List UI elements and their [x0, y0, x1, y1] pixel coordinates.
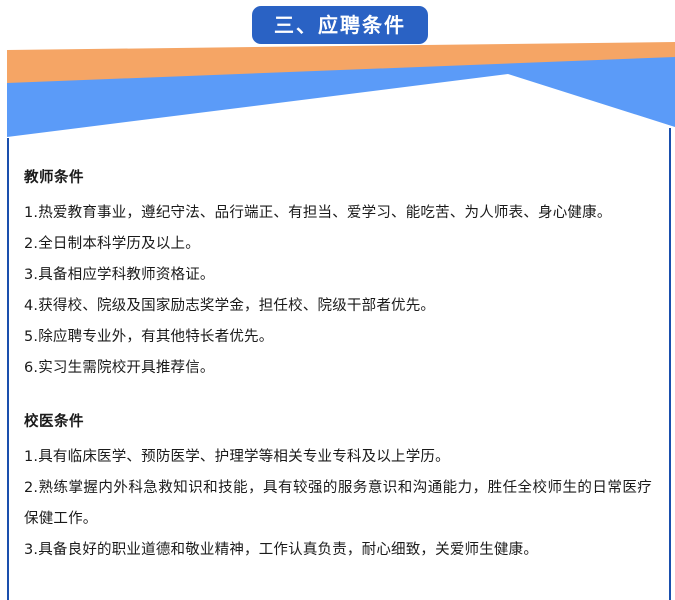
- list-item: 2.全日制本科学历及以上。: [24, 229, 652, 260]
- right-vertical-rule: [669, 128, 671, 600]
- list-item: 5.除应聘专业外，有其他特长者优先。: [24, 322, 652, 353]
- section-teacher-requirements: 教师条件 1.热爱教育事业，遵纪守法、品行端正、有担当、爱学习、能吃苦、为人师表…: [24, 168, 652, 384]
- list-item: 3.具备相应学科教师资格证。: [24, 260, 652, 291]
- section-school-doctor-requirements: 校医条件 1.具有临床医学、预防医学、护理学等相关专业专科及以上学历。 2.熟练…: [24, 412, 652, 566]
- list-item: 4.获得校、院级及国家励志奖学金，担任校、院级干部者优先。: [24, 291, 652, 322]
- section-heading-teacher: 教师条件: [24, 168, 652, 190]
- requirements-content: 教师条件 1.热爱教育事业，遵纪守法、品行端正、有担当、爱学习、能吃苦、为人师表…: [24, 168, 652, 566]
- left-vertical-rule: [7, 138, 9, 600]
- section-title-text: 三、应聘条件: [274, 15, 406, 35]
- section-heading-school-doctor: 校医条件: [24, 412, 652, 434]
- section-title-badge: 三、应聘条件: [252, 6, 428, 44]
- list-item: 2.熟练掌握内外科急救知识和技能，具有较强的服务意识和沟通能力，胜任全校师生的日…: [24, 473, 652, 535]
- list-item: 1.具有临床医学、预防医学、护理学等相关专业专科及以上学历。: [24, 442, 652, 473]
- list-item: 1.热爱教育事业，遵纪守法、品行端正、有担当、爱学习、能吃苦、为人师表、身心健康…: [24, 198, 652, 229]
- list-item: 3.具备良好的职业道德和敬业精神，工作认真负责，耐心细致，关爱师生健康。: [24, 535, 652, 566]
- list-item: 6.实习生需院校开具推荐信。: [24, 353, 652, 384]
